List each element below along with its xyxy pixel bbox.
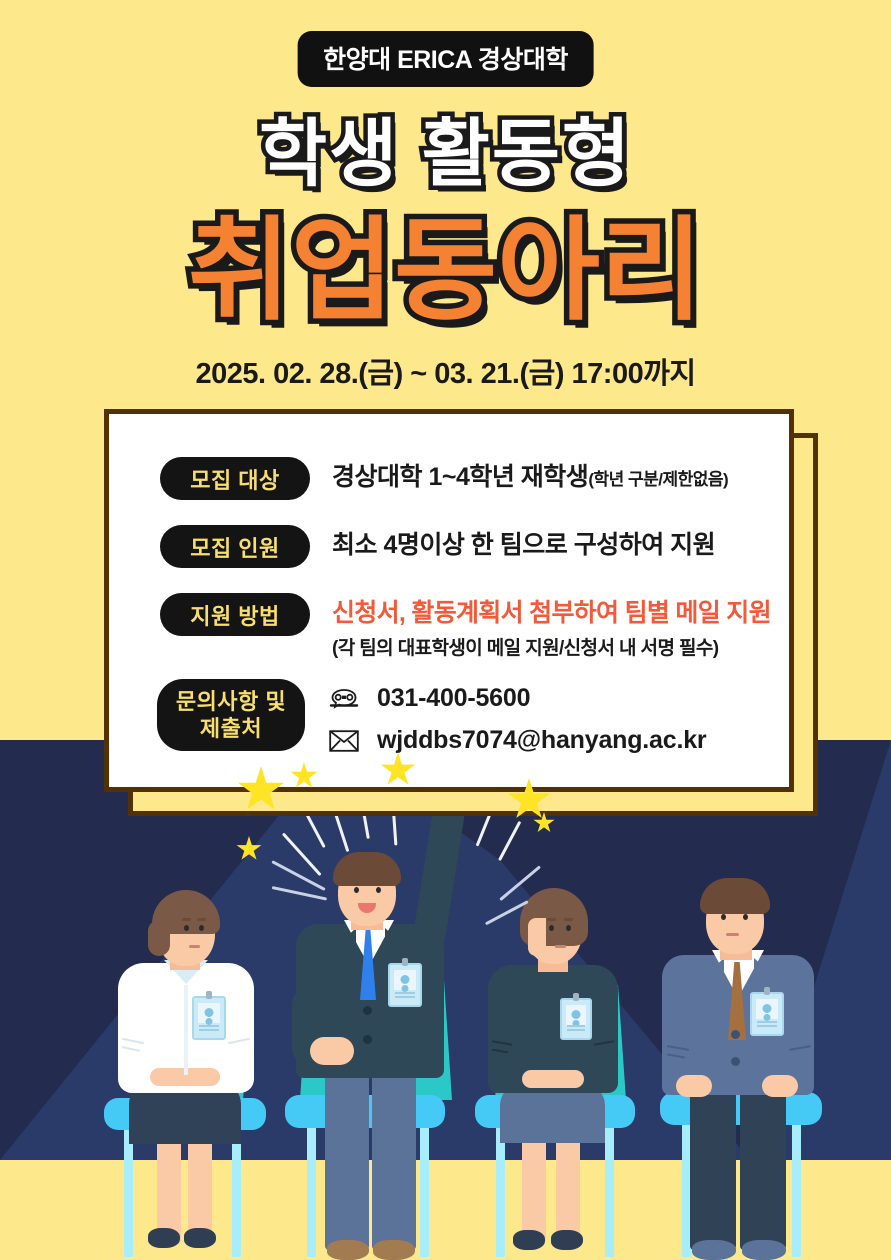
info-row-apply-method: 지원 방법 신청서, 활동계획서 첨부하여 팀별 메일 지원 (각 팀의 대표학… — [160, 593, 771, 660]
chair-leg — [605, 1122, 614, 1257]
contact-phone-value[interactable]: 031-400-5600 — [377, 684, 530, 713]
hair — [700, 878, 770, 914]
row-value-main: 최소 4명이상 한 팀으로 구성하여 지원 — [332, 525, 715, 561]
mouth — [726, 933, 739, 936]
id-badge — [388, 963, 422, 1007]
badge-lines — [757, 1021, 777, 1029]
eye — [354, 887, 359, 893]
mouth — [189, 945, 200, 948]
row-value-block: 최소 4명이상 한 팀으로 구성하여 지원 — [332, 525, 715, 561]
leg — [556, 1135, 580, 1245]
row-value-main-highlighted: 신청서, 활동계획서 첨부하여 팀별 메일 지원 — [332, 593, 771, 629]
row-value-main: 경상대학 1~4학년 재학생 — [332, 463, 588, 491]
badge-lines — [199, 1025, 219, 1033]
suit-button — [363, 1006, 372, 1015]
badge-lines — [395, 992, 415, 1000]
contact-label-pill: 문의사항 및 제출처 — [157, 679, 305, 751]
leg — [325, 1065, 369, 1250]
badge-photo — [198, 1003, 220, 1023]
application-period: 2025. 02. 28.(금) ~ 03. 21.(금) 17:00까지 — [0, 350, 891, 392]
badge-photo — [566, 1005, 586, 1025]
contact-label-line2: 제출처 — [200, 715, 262, 743]
id-badge — [560, 998, 592, 1040]
eye — [376, 887, 381, 893]
eye — [184, 925, 189, 931]
row-label-text: 모집 대상 — [190, 463, 280, 495]
skirt — [500, 1085, 605, 1143]
info-row-recruit-target: 모집 대상 경상대학 1~4학년 재학생(학년 구분/제한없음) — [160, 457, 728, 500]
row-value-block: 신청서, 활동계획서 첨부하여 팀별 메일 지원 (각 팀의 대표학생이 메일 … — [332, 593, 771, 660]
leg — [522, 1135, 546, 1245]
suit-button — [363, 1035, 372, 1044]
eyebrow — [351, 879, 362, 882]
row-value-small: (학년 구분/제한없음) — [588, 470, 728, 489]
hand — [676, 1075, 712, 1097]
shoe — [184, 1228, 216, 1248]
hand — [762, 1075, 798, 1097]
hand — [310, 1037, 354, 1065]
shoe — [551, 1230, 583, 1250]
eye — [199, 925, 204, 931]
mouth — [555, 945, 566, 948]
row-label-text: 지원 방법 — [190, 599, 280, 631]
chair-leg — [124, 1125, 133, 1257]
row-label-text: 모집 인원 — [190, 531, 280, 563]
chair-leg — [232, 1125, 241, 1257]
eyebrow — [718, 906, 729, 909]
hand — [522, 1070, 584, 1088]
eye — [566, 925, 571, 931]
chair-leg — [792, 1122, 801, 1257]
leg — [372, 1065, 416, 1250]
shoe — [742, 1240, 786, 1260]
suit-button — [731, 1030, 740, 1039]
id-badge — [750, 992, 784, 1036]
poster-root: 모집 대상 경상대학 1~4학년 재학생(학년 구분/제한없음) 모집 인원 최… — [0, 0, 891, 1260]
info-row-contact: 문의사항 및 제출처 — [157, 679, 706, 755]
suit-button — [731, 1057, 740, 1066]
eye — [743, 914, 748, 920]
row-label-pill: 모집 대상 — [160, 457, 310, 500]
contact-values: 031-400-5600 wjddbs7074@hanyang.ac.kr — [327, 684, 706, 755]
telephone-icon — [327, 688, 361, 710]
leg — [740, 1080, 786, 1250]
info-row-team-size: 모집 인원 최소 4명이상 한 팀으로 구성하여 지원 — [160, 525, 715, 568]
badge-photo — [394, 970, 416, 990]
hair — [333, 852, 401, 886]
row-label-pill: 모집 인원 — [160, 525, 310, 568]
hair-bun — [148, 920, 170, 956]
button-placket — [184, 985, 188, 1075]
eyebrow — [740, 906, 751, 909]
badge-lines — [567, 1025, 585, 1033]
eye — [549, 925, 554, 931]
eyebrow — [564, 918, 573, 921]
contact-label-line1: 문의사항 및 — [176, 688, 286, 716]
row-value-block: 경상대학 1~4학년 재학생(학년 구분/제한없음) — [332, 457, 728, 493]
shoe — [148, 1228, 180, 1248]
face-side — [528, 918, 546, 956]
envelope-icon — [327, 730, 361, 752]
row-value-sub: (각 팀의 대표학생이 메일 지원/신청서 내 서명 필수) — [332, 633, 771, 660]
chair-leg — [307, 1122, 316, 1257]
eyebrow — [547, 918, 556, 921]
badge-photo — [756, 999, 778, 1019]
contact-email-value[interactable]: wjddbs7074@hanyang.ac.kr — [377, 726, 706, 755]
eyebrow — [197, 918, 206, 921]
shoe — [373, 1240, 415, 1260]
leg — [690, 1080, 736, 1250]
contact-email-line: wjddbs7074@hanyang.ac.kr — [327, 726, 706, 755]
info-card: 모집 대상 경상대학 1~4학년 재학생(학년 구분/제한없음) 모집 인원 최… — [104, 409, 794, 792]
shoe — [513, 1230, 545, 1250]
contact-phone-line: 031-400-5600 — [327, 684, 706, 713]
org-badge: 한양대 ERICA 경상대학 — [297, 31, 594, 87]
eye — [721, 914, 726, 920]
row-value: 경상대학 1~4학년 재학생(학년 구분/제한없음) — [332, 457, 728, 493]
eyebrow — [182, 918, 191, 921]
title-line-2: 취업동아리 — [0, 180, 891, 342]
row-label-pill: 지원 방법 — [160, 593, 310, 636]
chair-leg — [420, 1122, 429, 1257]
id-badge — [192, 996, 226, 1040]
eyebrow — [373, 879, 384, 882]
shoe — [327, 1240, 369, 1260]
shoe — [692, 1240, 736, 1260]
